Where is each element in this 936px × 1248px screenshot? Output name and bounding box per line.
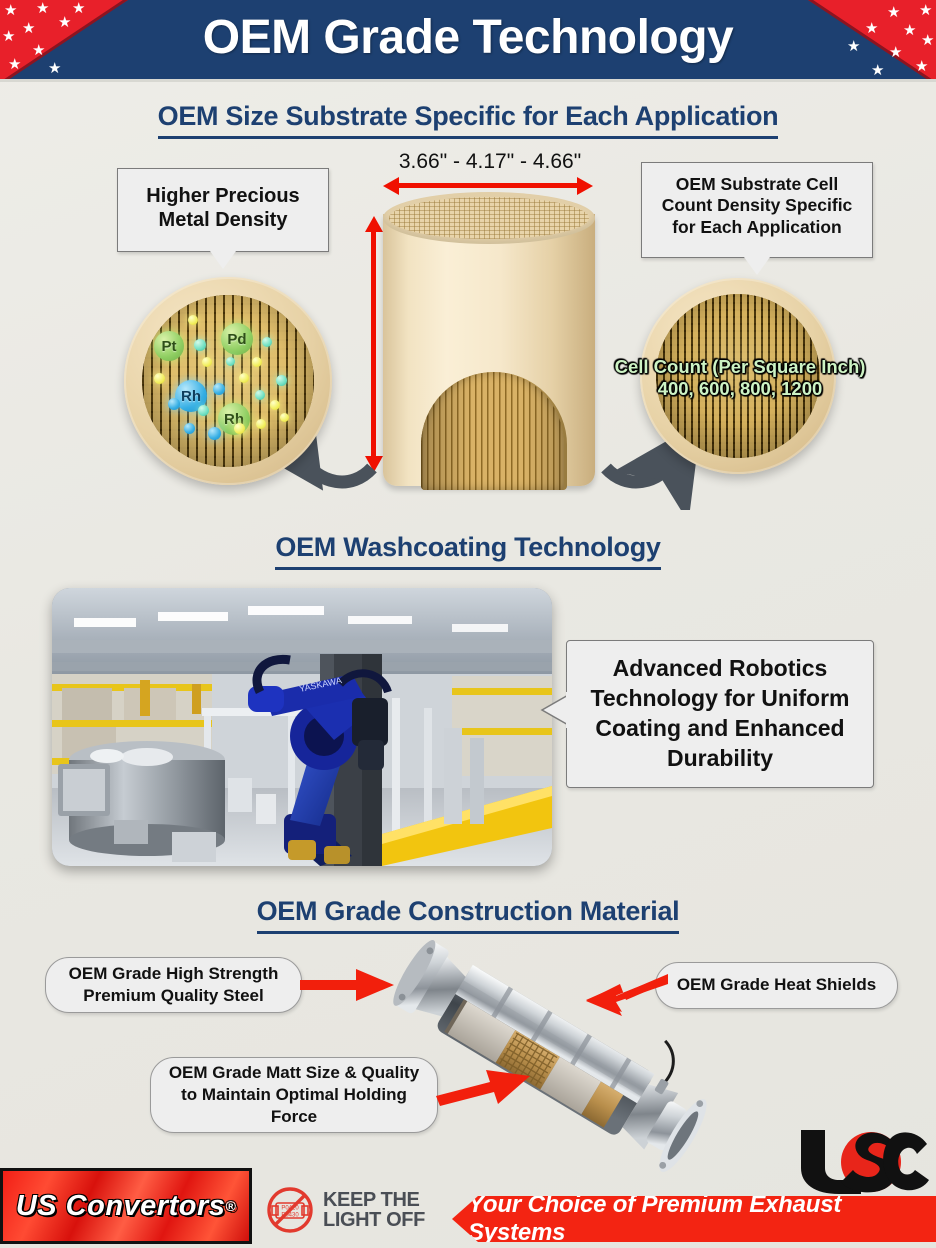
metal-dot — [234, 423, 245, 434]
keep-light-line1: KEEP THE — [323, 1190, 425, 1210]
callout-cell-count-density-text: OEM Substrate Cell Count Density Specifi… — [662, 174, 853, 237]
diameter-label: 3.66" - 4.17" - 4.66" — [330, 150, 650, 174]
section-heading-washcoating-text: OEM Washcoating Technology — [275, 532, 660, 570]
metal-dot — [255, 390, 265, 400]
cell-count-annotation: Cell Count (Per Square Inch) 400, 600, 8… — [600, 356, 880, 400]
callout-robotics-tail — [540, 690, 572, 730]
metal-dot — [270, 400, 280, 410]
callout-premium-steel-text: OEM Grade High Strength Premium Quality … — [56, 963, 291, 1007]
metal-dot — [194, 339, 206, 351]
keep-the-light-off-badge: P0420 P0430 KEEP THE LIGHT OFF — [266, 1182, 436, 1238]
callout-precious-metal-density-text: Higher Precious Metal Density — [146, 185, 299, 231]
arrow-to-heat-shields — [586, 972, 668, 1018]
metal-dot — [239, 373, 249, 383]
callout-matt-size: OEM Grade Matt Size & Quality to Maintai… — [150, 1057, 438, 1133]
metal-dot — [276, 375, 287, 386]
tagline-text: Your Choice of Premium Exhaust Systems — [452, 1191, 936, 1247]
callout-premium-steel: OEM Grade High Strength Premium Quality … — [45, 957, 302, 1013]
metal-dot — [226, 357, 235, 366]
metal-particle-pd: Pd — [221, 323, 253, 355]
zoom-circle-precious-metals: Pt Pd Rh Rh — [124, 277, 332, 485]
keep-light-line2: LIGHT OFF — [323, 1210, 425, 1230]
substrate-cylinder-illustration — [383, 192, 595, 492]
metal-dot — [262, 337, 272, 347]
page-header: OEM Grade Technology — [0, 0, 936, 82]
metal-dot — [208, 427, 221, 440]
cell-count-title: Cell Count (Per Square Inch) — [600, 356, 880, 378]
callout-heat-shields-text: OEM Grade Heat Shields — [677, 974, 876, 996]
section-heading-construction-text: OEM Grade Construction Material — [257, 896, 680, 934]
keep-light-off-text: KEEP THE LIGHT OFF — [323, 1190, 425, 1231]
metal-dot — [202, 357, 212, 367]
callout-precious-metal-density: Higher Precious Metal Density — [117, 168, 329, 252]
us-convertors-brand: US Convertors® — [3, 1171, 249, 1241]
us-convertors-logo-box: US Convertors® — [0, 1168, 252, 1244]
callout-matt-size-text: OEM Grade Matt Size & Quality to Maintai… — [161, 1062, 427, 1128]
page-title: OEM Grade Technology — [0, 0, 936, 78]
metal-dot — [188, 315, 198, 325]
infographic-page: OEM Grade Technology OEM Size Substrate … — [0, 0, 936, 1248]
registered-mark: ® — [225, 1198, 236, 1214]
washcoating-robot-photo: YASKAWA — [52, 588, 552, 866]
callout-advanced-robotics: Advanced Robotics Technology for Uniform… — [566, 640, 874, 788]
metal-dot — [213, 383, 225, 395]
metal-dot — [184, 423, 195, 434]
metal-dot — [154, 373, 165, 384]
section-heading-washcoating: OEM Washcoating Technology — [0, 532, 936, 570]
callout-advanced-robotics-text: Advanced Robotics Technology for Uniform… — [581, 654, 859, 774]
arrow-to-steel — [300, 967, 396, 1003]
section-heading-construction: OEM Grade Construction Material — [0, 896, 936, 934]
no-check-engine-light-icon: P0420 P0430 — [266, 1186, 314, 1234]
callout-heat-shields: OEM Grade Heat Shields — [655, 962, 898, 1009]
cell-count-values: 400, 600, 800, 1200 — [600, 378, 880, 400]
length-arrow — [366, 216, 380, 472]
metal-dot — [198, 405, 209, 416]
metal-dot — [252, 357, 262, 367]
metal-particle-pt: Pt — [154, 331, 184, 361]
callout-cell-count-density: OEM Substrate Cell Count Density Specifi… — [641, 162, 873, 258]
callout-tail — [210, 251, 236, 269]
us-convertors-brand-text: US Convertors — [16, 1190, 226, 1223]
metal-dot — [256, 419, 266, 429]
arrow-to-matt — [436, 1062, 532, 1108]
metal-dot — [280, 413, 289, 422]
callout-tail — [744, 257, 770, 275]
metal-dot — [168, 398, 180, 410]
section-heading-substrate: OEM Size Substrate Specific for Each App… — [0, 101, 936, 139]
usc-logo — [795, 1126, 931, 1198]
tagline-banner: Your Choice of Premium Exhaust Systems — [452, 1196, 936, 1242]
section-heading-substrate-text: OEM Size Substrate Specific for Each App… — [158, 101, 779, 139]
diameter-arrow — [383, 178, 593, 192]
